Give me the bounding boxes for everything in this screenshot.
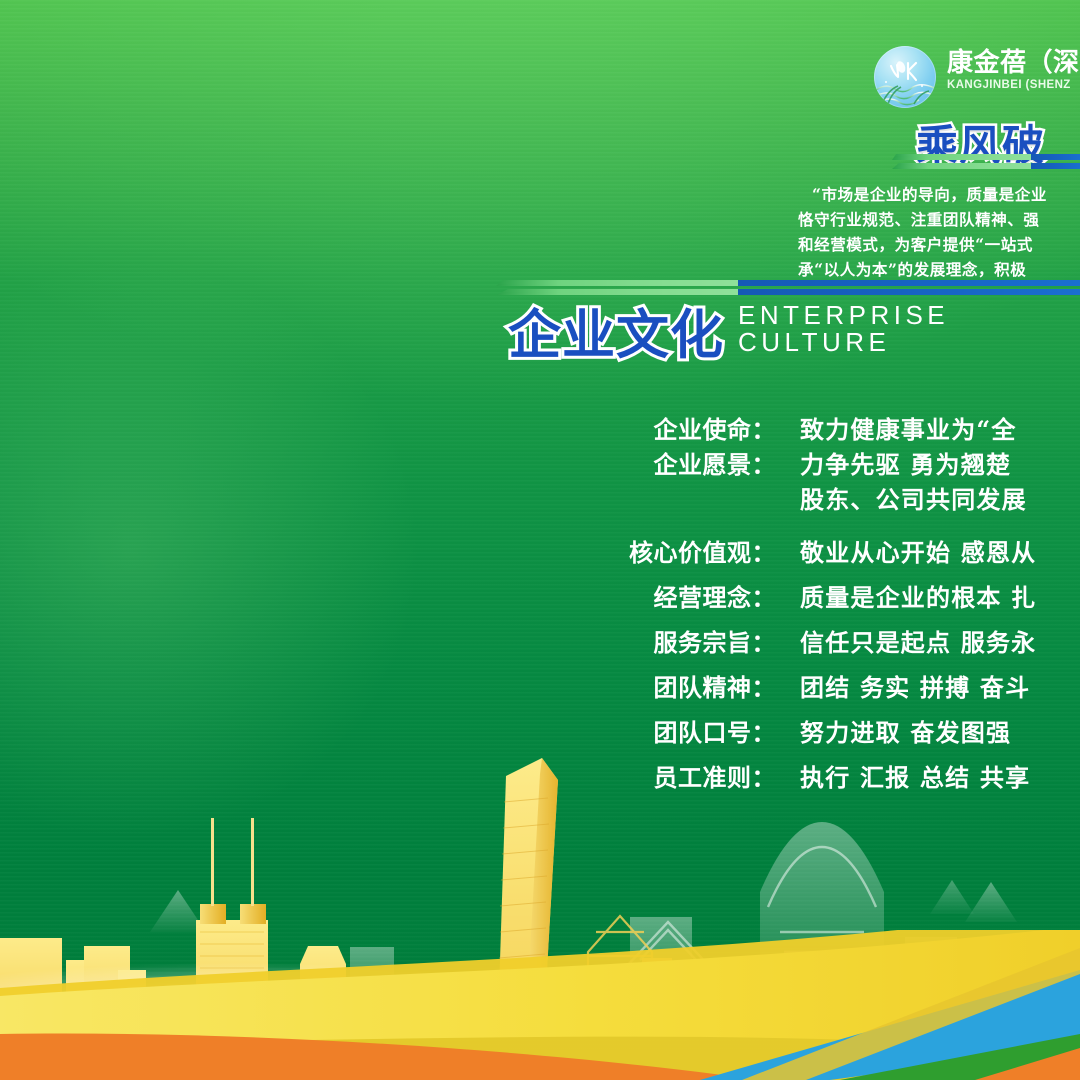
culture-row: 企业愿景：力争先驱 勇为翘楚股东、公司共同发展	[620, 445, 1080, 515]
culture-row-label: 核心价值观：	[620, 533, 776, 568]
culture-row-label: 企业愿景：	[620, 445, 776, 480]
intro-paragraph: “市场是企业的导向，质量是企业 恪守行业规范、注重团队精神、强 和经营模式，为客…	[798, 182, 1080, 282]
section-title: 企业文化 ENTERPRISE CULTURE	[508, 302, 949, 362]
section-title-en: ENTERPRISE CULTURE	[738, 302, 949, 362]
culture-row-value-text: 信任只是起点 服务永	[800, 628, 1036, 657]
culture-row-value: 团结 务实 拼搏 奋斗	[776, 668, 1030, 703]
brand-lockup: 康金蓓（深圳 KANGJINBEI (SHENZ	[874, 46, 1080, 108]
culture-row-value-text: 团结 务实 拼搏 奋斗	[800, 673, 1030, 702]
culture-row-label: 服务宗旨：	[620, 623, 776, 658]
section-title-cn: 企业文化	[508, 309, 724, 362]
logo-leaf-wave-glyph	[874, 46, 936, 108]
culture-row-label: 经营理念：	[620, 578, 776, 613]
intro-line: “市场是企业的导向，质量是企业	[798, 182, 1080, 207]
poster-canvas: 康金蓓（深圳 KANGJINBEI (SHENZ 乘风破 “市场是企业的导向，质…	[0, 0, 1080, 1080]
culture-row-value-continuation: 股东、公司共同发展	[800, 480, 1027, 515]
culture-row: 经营理念：质量是企业的根本 扎	[620, 578, 1080, 613]
intro-line: 恪守行业规范、注重团队精神、强	[798, 207, 1080, 232]
section-title-en-line2: CULTURE	[738, 329, 949, 356]
header-divider-rule	[892, 154, 1080, 172]
culture-row-value: 敬业从心开始 感恩从	[776, 533, 1036, 568]
culture-row: 核心价值观：敬业从心开始 感恩从	[620, 533, 1080, 568]
section-title-en-line1: ENTERPRISE	[738, 302, 949, 329]
section-divider-rule	[496, 280, 1080, 298]
culture-row-value-text: 力争先驱 勇为翘楚	[800, 450, 1011, 479]
culture-row-value: 质量是企业的根本 扎	[776, 578, 1036, 613]
culture-row-value: 致力健康事业为“全	[776, 410, 1017, 445]
culture-row: 企业使命：致力健康事业为“全	[620, 410, 1080, 445]
intro-line: 承“以人为本”的发展理念，积极	[798, 257, 1080, 282]
bottom-ribbon-graphic	[0, 930, 1080, 1080]
culture-row-label: 企业使命：	[620, 410, 776, 445]
intro-line: 和经营模式，为客户提供“一站式	[798, 232, 1080, 257]
company-logo-icon	[874, 46, 936, 108]
culture-row-value-text: 致力健康事业为“全	[800, 415, 1017, 444]
culture-row-value: 信任只是起点 服务永	[776, 623, 1036, 658]
culture-row-value: 力争先驱 勇为翘楚股东、公司共同发展	[776, 445, 1027, 515]
culture-row-value-text: 质量是企业的根本 扎	[800, 583, 1036, 612]
culture-row: 团队精神：团结 务实 拼搏 奋斗	[620, 668, 1080, 703]
culture-row: 服务宗旨：信任只是起点 服务永	[620, 623, 1080, 658]
culture-row-label: 团队精神：	[620, 668, 776, 703]
company-name-en: KANGJINBEI (SHENZ	[947, 79, 1080, 91]
brand-text-block: 康金蓓（深圳 KANGJINBEI (SHENZ	[947, 46, 1080, 91]
culture-row-value-text: 敬业从心开始 感恩从	[800, 538, 1036, 567]
company-name-cn: 康金蓓（深圳	[947, 48, 1080, 76]
